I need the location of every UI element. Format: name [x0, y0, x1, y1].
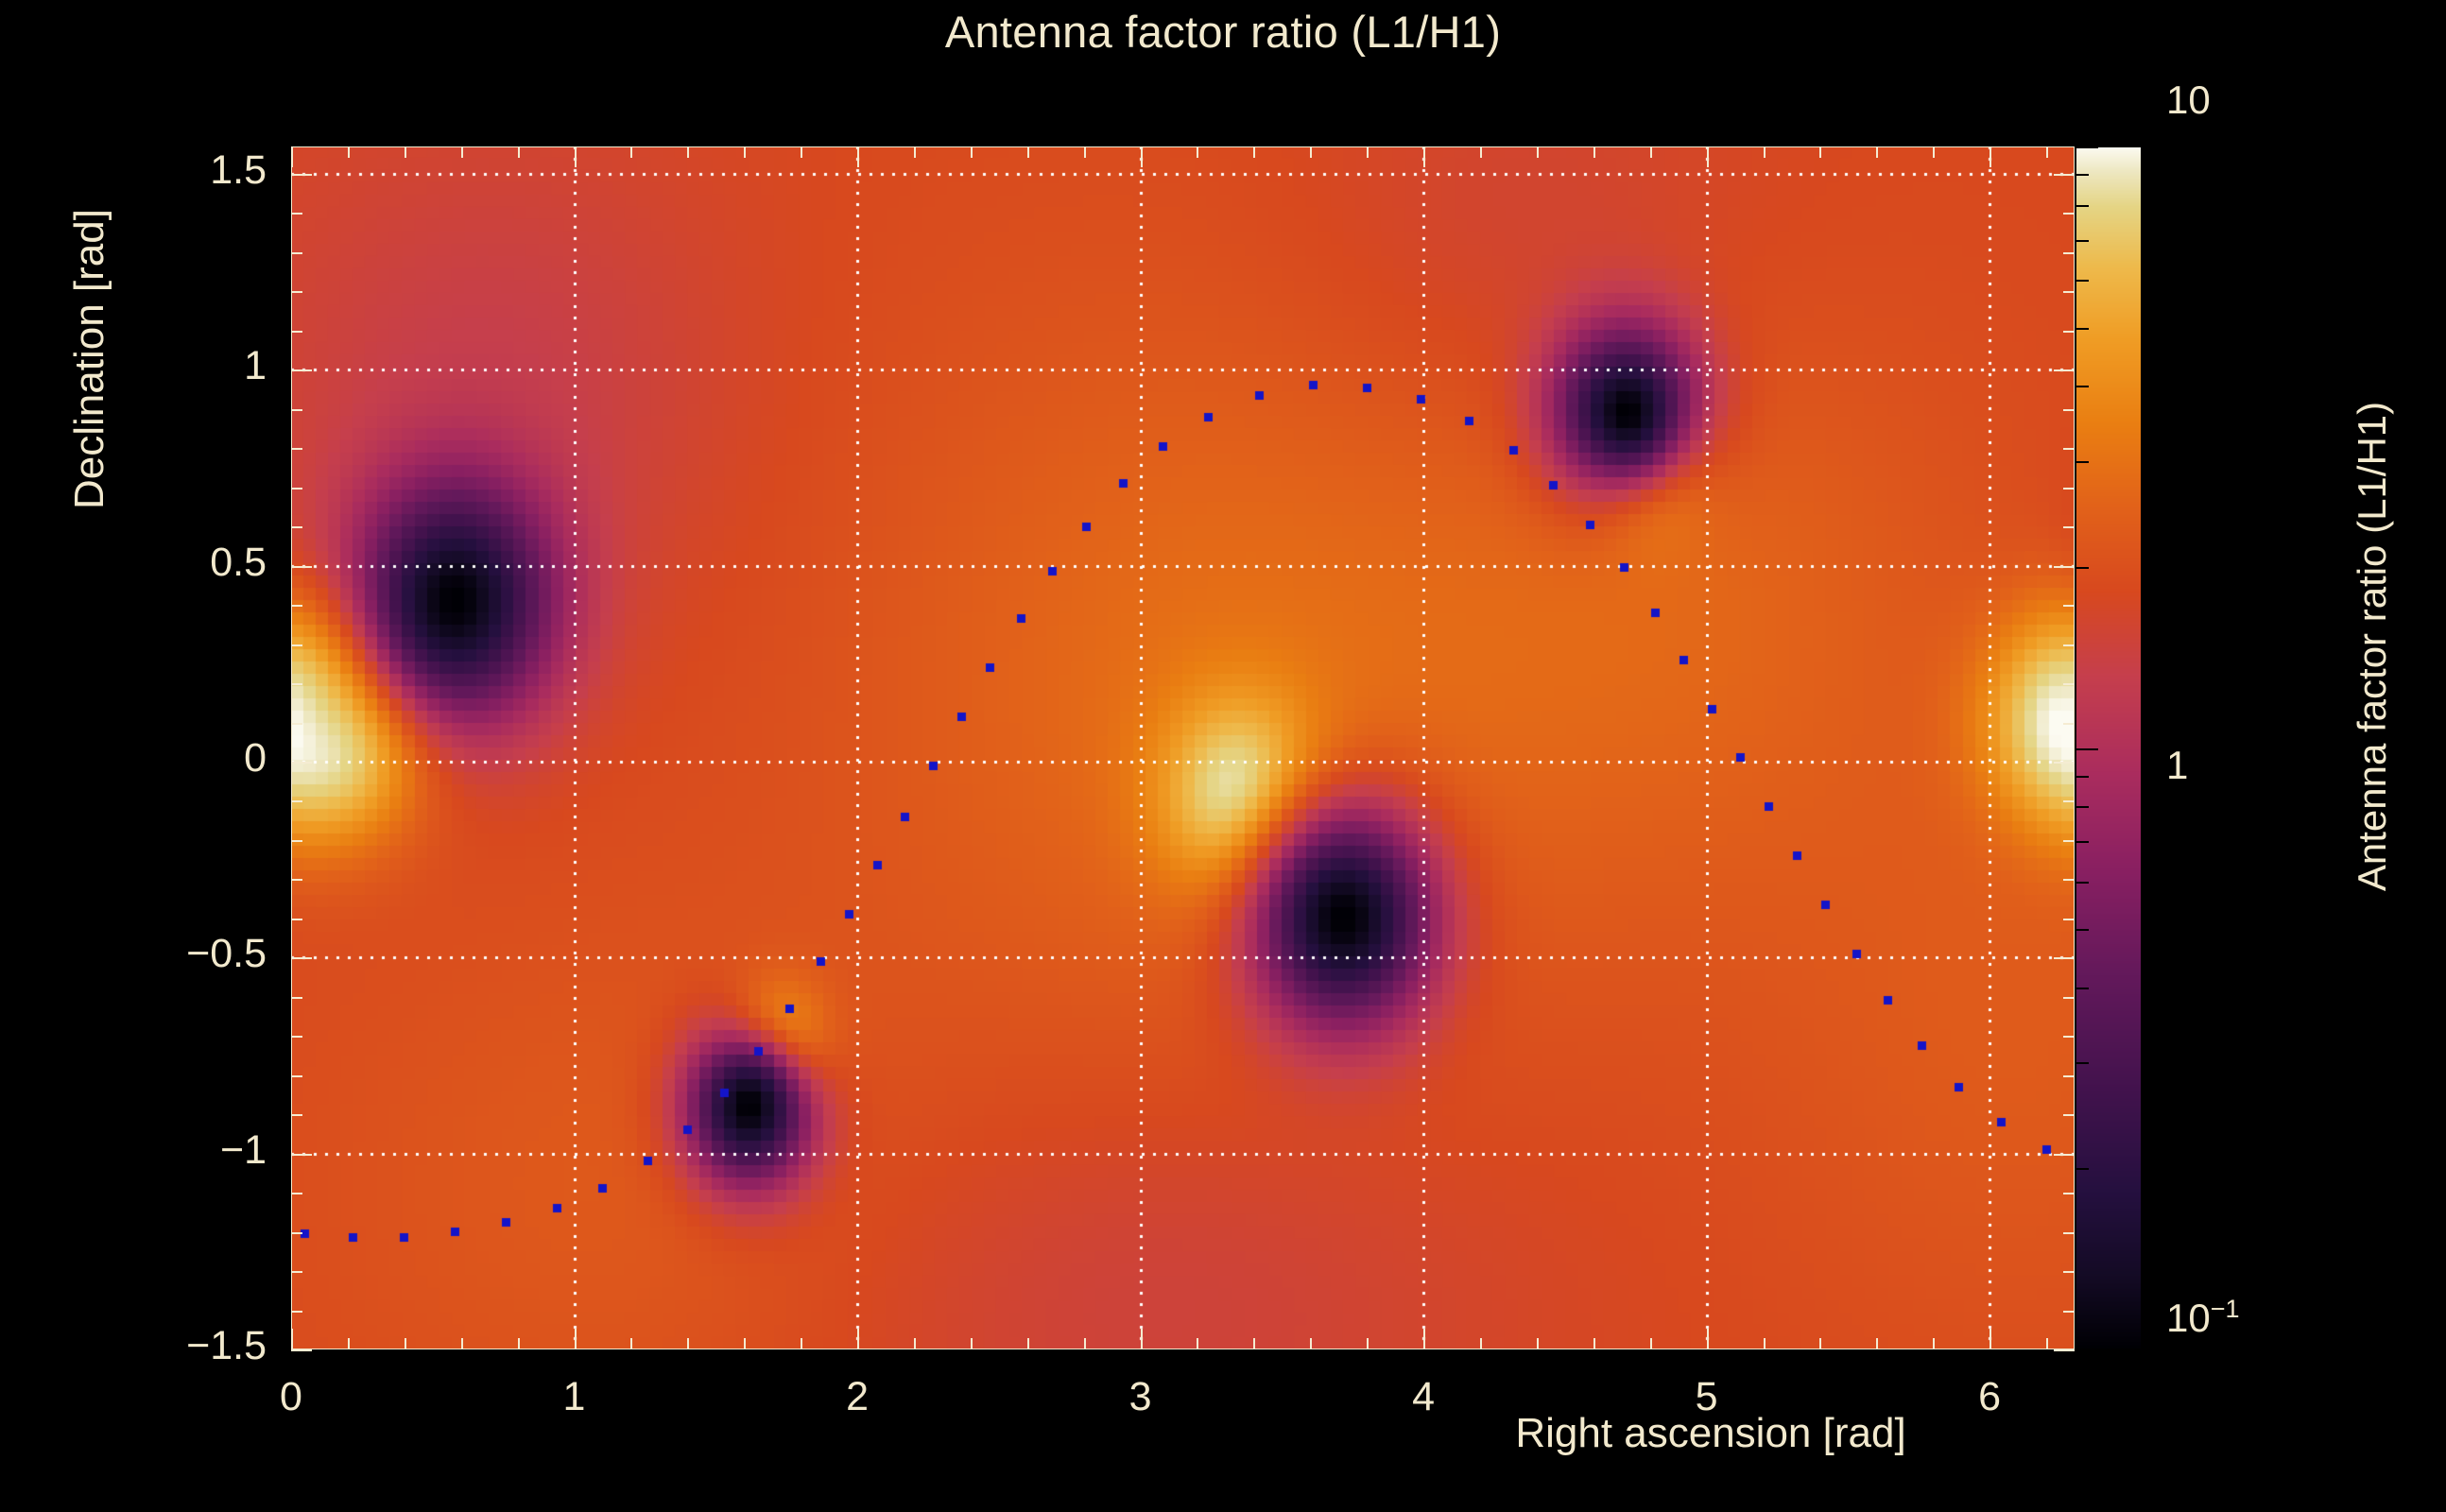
- x-axis-tick: [1480, 1338, 1482, 1349]
- x-axis-tick: [348, 1338, 350, 1349]
- y-axis-tick: [291, 331, 302, 333]
- x-axis-tick: [914, 1338, 916, 1349]
- x-axis-tick-top: [1933, 146, 1935, 158]
- colorbar-tick: [2076, 929, 2089, 931]
- x-axis-tick: [1707, 1329, 1709, 1349]
- y-axis-tick-right: [2063, 252, 2075, 254]
- y-axis-tick: [291, 409, 302, 411]
- x-axis-tick: [461, 1338, 463, 1349]
- heatmap-plot-area[interactable]: [291, 146, 2075, 1349]
- y-axis-tick-right: [2054, 762, 2075, 764]
- y-tick-label: −1: [59, 1127, 267, 1174]
- colorbar-label-top: 10: [2166, 77, 2211, 123]
- x-axis-tick-top: [348, 146, 350, 158]
- x-axis-tick: [1593, 1338, 1595, 1349]
- colorbar-tick: [2076, 174, 2089, 176]
- y-axis-tick: [291, 800, 302, 802]
- x-axis-tick-top: [1537, 146, 1539, 158]
- y-axis-tick: [291, 723, 302, 725]
- z-axis-title: Antenna factor ratio (L1/H1): [2350, 316, 2395, 977]
- heatmap-image: [291, 146, 2075, 1349]
- x-axis-tick-top: [1141, 146, 1143, 167]
- x-axis-tick: [630, 1338, 632, 1349]
- y-axis-tick: [291, 1349, 312, 1351]
- y-axis-tick: [291, 1036, 302, 1038]
- x-axis-tick-top: [1197, 146, 1198, 158]
- colorbar-tick: [2076, 748, 2098, 750]
- x-axis-tick: [1197, 1338, 1198, 1349]
- y-axis-tick: [291, 1075, 302, 1077]
- plot-canvas: Antenna factor ratio (L1/H1) 01234561.51…: [0, 0, 2446, 1512]
- x-axis-tick-top: [914, 146, 916, 158]
- y-axis-tick: [291, 1311, 302, 1313]
- colorbar-tick: [2076, 806, 2089, 808]
- colorbar-tick: [2076, 567, 2089, 569]
- x-axis-tick-top: [1423, 146, 1425, 167]
- x-axis-tick: [687, 1338, 689, 1349]
- x-axis-tick: [1537, 1338, 1539, 1349]
- y-axis-tick: [291, 213, 302, 215]
- x-axis-tick: [291, 1329, 293, 1349]
- x-axis-tick-top: [291, 146, 293, 167]
- x-axis-title: Right ascension [rad]: [1352, 1410, 2070, 1457]
- x-axis-tick: [575, 1329, 577, 1349]
- y-axis-tick: [291, 252, 302, 254]
- x-axis-tick-top: [801, 146, 802, 158]
- x-axis-tick-top: [1593, 146, 1595, 158]
- colorbar-tick: [2076, 988, 2089, 989]
- x-axis-tick-top: [1084, 146, 1086, 158]
- y-axis-tick-right: [2054, 369, 2075, 371]
- colorbar-tick: [2076, 386, 2089, 387]
- y-axis-tick: [291, 957, 312, 959]
- x-tick-label: 0: [234, 1374, 348, 1420]
- x-axis-tick-top: [518, 146, 520, 158]
- x-axis-tick: [744, 1338, 746, 1349]
- x-axis-tick: [1310, 1338, 1312, 1349]
- y-axis-tick: [291, 526, 302, 528]
- y-axis-tick-right: [2063, 1311, 2075, 1313]
- x-axis-tick-top: [1707, 146, 1709, 167]
- x-axis-tick-top: [1027, 146, 1029, 158]
- x-axis-tick: [1253, 1338, 1255, 1349]
- x-axis-tick-top: [1480, 146, 1482, 158]
- x-axis-tick: [801, 1338, 802, 1349]
- x-tick-label: 2: [801, 1374, 914, 1420]
- x-axis-tick-top: [687, 146, 689, 158]
- x-axis-tick-top: [630, 146, 632, 158]
- x-axis-tick: [1933, 1338, 1935, 1349]
- x-axis-tick-top: [1367, 146, 1369, 158]
- y-axis-tick: [291, 1271, 302, 1273]
- colorbar-tick: [2076, 1349, 2098, 1351]
- x-tick-label: 3: [1084, 1374, 1197, 1420]
- x-axis-tick: [2046, 1338, 2048, 1349]
- y-axis-tick: [291, 840, 302, 842]
- colorbar-tick: [2076, 1062, 2089, 1064]
- y-axis-tick-right: [2063, 331, 2075, 333]
- y-axis-tick-right: [2063, 683, 2075, 685]
- x-axis-tick-top: [575, 146, 577, 167]
- x-axis-tick: [1367, 1338, 1369, 1349]
- colorbar-label-bottom: 10−1: [2166, 1295, 2240, 1341]
- x-axis-tick: [1764, 1338, 1766, 1349]
- y-axis-tick-right: [2063, 1193, 2075, 1194]
- y-axis-tick: [291, 605, 302, 607]
- y-axis-tick-right: [2063, 1232, 2075, 1234]
- y-axis-tick-right: [2063, 448, 2075, 450]
- y-axis-tick-right: [2063, 997, 2075, 999]
- y-axis-tick-right: [2054, 566, 2075, 568]
- y-tick-label: −1.5: [59, 1323, 267, 1369]
- colorbar-tick: [2076, 1168, 2089, 1170]
- y-axis-tick-right: [2063, 1114, 2075, 1116]
- x-axis-tick: [1990, 1329, 1991, 1349]
- y-axis-tick-right: [2054, 1349, 2075, 1351]
- colorbar-tick: [2076, 461, 2089, 463]
- y-axis-tick: [291, 1154, 312, 1156]
- y-axis-tick: [291, 291, 302, 293]
- x-axis-tick: [971, 1338, 973, 1349]
- y-axis-tick-right: [2063, 644, 2075, 646]
- x-axis-tick-top: [1310, 146, 1312, 158]
- colorbar-tick: [2076, 328, 2089, 330]
- x-axis-tick-top: [857, 146, 859, 167]
- y-tick-label: −0.5: [59, 931, 267, 977]
- y-axis-tick-right: [2063, 526, 2075, 528]
- colorbar-label-bottom-mantissa: 10: [2166, 1296, 2211, 1340]
- y-axis-tick-right: [2063, 213, 2075, 215]
- y-axis-tick: [291, 566, 312, 568]
- x-axis-tick: [857, 1329, 859, 1349]
- y-axis-tick-right: [2063, 291, 2075, 293]
- y-axis-tick: [291, 448, 302, 450]
- y-axis-tick-right: [2054, 957, 2075, 959]
- y-axis-tick-right: [2063, 1075, 2075, 1077]
- y-axis-tick: [291, 762, 312, 764]
- x-axis-tick-top: [1990, 146, 1991, 167]
- x-axis-tick: [1084, 1338, 1086, 1349]
- y-axis-tick: [291, 683, 302, 685]
- x-axis-tick: [1819, 1338, 1821, 1349]
- x-axis-tick: [1650, 1338, 1652, 1349]
- x-axis-tick: [1027, 1338, 1029, 1349]
- y-axis-tick-right: [2054, 174, 2075, 176]
- x-axis-tick-top: [744, 146, 746, 158]
- y-axis-tick: [291, 644, 302, 646]
- colorbar-tick: [2076, 205, 2089, 207]
- colorbar-tick: [2076, 882, 2089, 884]
- x-axis-tick: [1423, 1329, 1425, 1349]
- x-axis-tick-top: [971, 146, 973, 158]
- colorbar-tick: [2076, 146, 2098, 148]
- colorbar-label-mid: 1: [2166, 743, 2188, 788]
- y-axis-tick-right: [2063, 1036, 2075, 1038]
- x-axis-tick: [518, 1338, 520, 1349]
- x-tick-label: 1: [518, 1374, 631, 1420]
- x-axis-tick-top: [461, 146, 463, 158]
- y-axis-tick: [291, 174, 312, 176]
- x-axis-tick-top: [2046, 146, 2048, 158]
- y-axis-tick-right: [2063, 605, 2075, 607]
- y-axis-tick-right: [2063, 723, 2075, 725]
- x-axis-tick: [1876, 1338, 1878, 1349]
- colorbar-tick: [2076, 280, 2089, 282]
- y-axis-tick: [291, 1114, 302, 1116]
- y-axis-tick: [291, 488, 302, 490]
- colorbar-tick: [2076, 841, 2089, 843]
- y-axis-tick-right: [2063, 919, 2075, 920]
- y-axis-tick-right: [2063, 1271, 2075, 1273]
- x-axis-tick-top: [1253, 146, 1255, 158]
- colorbar-tick: [2076, 240, 2089, 242]
- x-axis-tick-top: [405, 146, 406, 158]
- y-axis-tick-right: [2063, 840, 2075, 842]
- y-axis-tick-right: [2063, 800, 2075, 802]
- y-axis-tick: [291, 879, 302, 881]
- y-tick-label: 0: [59, 735, 267, 782]
- x-axis-tick-top: [1764, 146, 1766, 158]
- colorbar-label-bottom-exponent: −1: [2211, 1295, 2240, 1323]
- x-axis-tick-top: [1650, 146, 1652, 158]
- colorbar-tick: [2076, 776, 2089, 778]
- y-axis-tick: [291, 369, 312, 371]
- y-axis-tick-right: [2054, 1154, 2075, 1156]
- y-axis-tick-right: [2063, 488, 2075, 490]
- x-axis-tick: [405, 1338, 406, 1349]
- y-axis-title: Declination [rad]: [66, 28, 113, 690]
- y-axis-tick: [291, 1232, 302, 1234]
- y-axis-tick-right: [2063, 879, 2075, 881]
- x-axis-tick: [1141, 1329, 1143, 1349]
- x-axis-tick-top: [1876, 146, 1878, 158]
- y-axis-tick: [291, 919, 302, 920]
- y-axis-tick-right: [2063, 409, 2075, 411]
- y-axis-tick: [291, 997, 302, 999]
- plot-title: Antenna factor ratio (L1/H1): [0, 6, 2446, 58]
- y-axis-tick: [291, 1193, 302, 1194]
- x-axis-tick-top: [1819, 146, 1821, 158]
